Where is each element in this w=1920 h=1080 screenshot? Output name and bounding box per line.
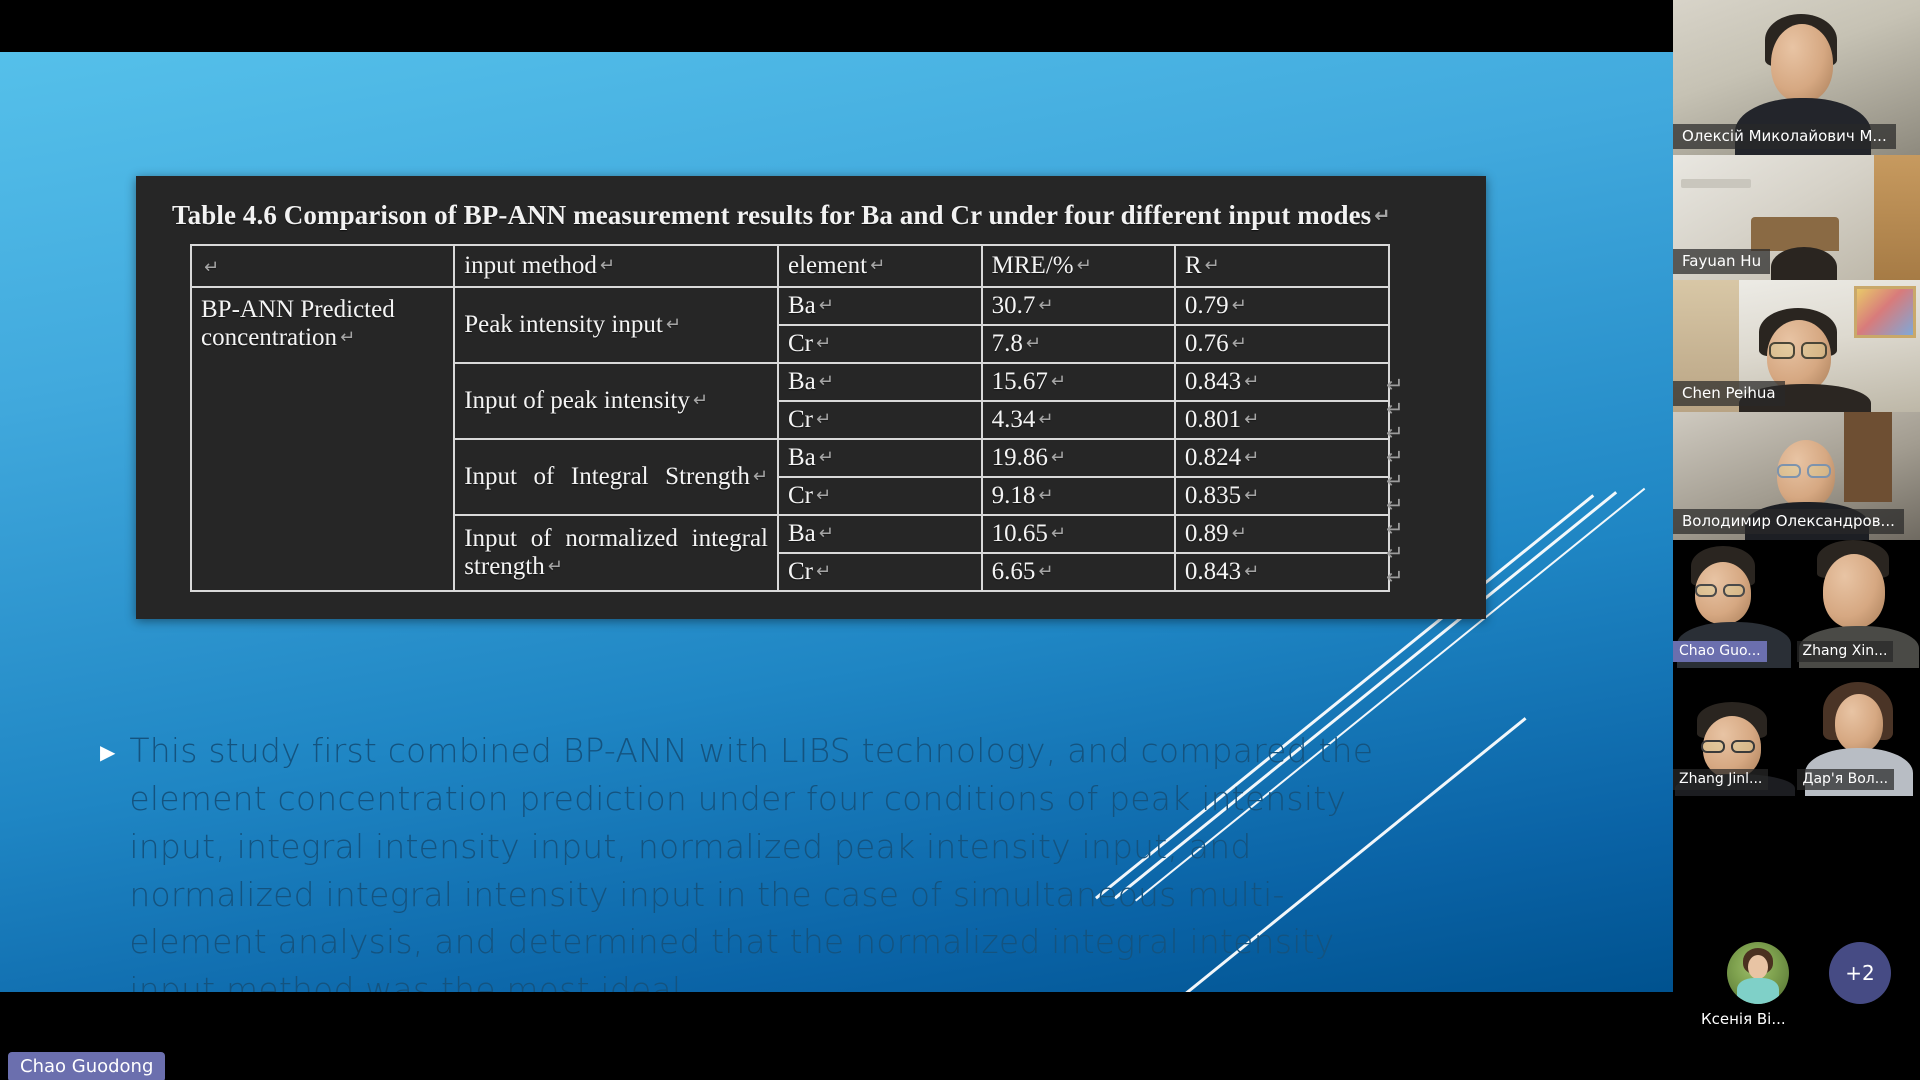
bullet-text: This study first combined BP-ANN with LI… xyxy=(129,727,1420,992)
pilcrow-icon: ↵ xyxy=(690,390,708,411)
face-shape xyxy=(1823,554,1885,628)
mre-text: 9.18 xyxy=(992,482,1036,509)
element-text: Ba xyxy=(788,368,816,395)
face-shape xyxy=(1771,24,1833,102)
header-cell-input-method: input method↵ xyxy=(454,245,778,287)
element-cell: Ba↵ xyxy=(778,515,982,553)
participant-tile[interactable]: Zhang Jinl... xyxy=(1673,668,1797,796)
glasses-icon xyxy=(1731,740,1755,753)
pilcrow-icon: ↵ xyxy=(663,314,681,335)
r-cell: 0.843↵ xyxy=(1175,363,1389,401)
table-header-row: ↵ input method↵ element↵ MRE/%↵ R↵ xyxy=(191,245,1389,287)
r-text: 0.89 xyxy=(1185,520,1229,547)
element-text: Cr xyxy=(788,558,813,585)
mre-text: 15.67 xyxy=(992,368,1048,395)
results-table: ↵ input method↵ element↵ MRE/%↵ R↵ BP-AN… xyxy=(190,244,1390,592)
pilcrow-icon: ↵ xyxy=(201,257,219,278)
pilcrow-icon: ↵ xyxy=(750,466,768,487)
method-text: Input of normalized integral strength xyxy=(464,525,768,580)
row-label-cell: BP-ANN Predicted concentration↵ xyxy=(191,287,454,591)
element-text: Cr xyxy=(788,330,813,357)
row-label-text: BP-ANN Predicted concentration xyxy=(201,296,395,351)
r-cell: 0.801↵ xyxy=(1175,401,1389,439)
mre-text: 10.65 xyxy=(992,520,1048,547)
pilcrow-icon: ↵ xyxy=(1386,421,1426,445)
participant-name: Zhang Jinl... xyxy=(1673,769,1768,790)
method-cell: Peak intensity input↵ xyxy=(454,287,778,363)
pilcrow-icon: ↵ xyxy=(816,371,834,392)
results-table-body: ↵ input method↵ element↵ MRE/%↵ R↵ BP-AN… xyxy=(191,245,1389,591)
pilcrow-icon: ↵ xyxy=(1023,333,1041,354)
participant-rail[interactable]: Олексій Миколайович М... Fayuan Hu Chen … xyxy=(1673,0,1920,1080)
r-cell: 0.76↵ xyxy=(1175,325,1389,363)
r-cell: 0.843↵ xyxy=(1175,553,1389,591)
element-cell: Cr↵ xyxy=(778,553,982,591)
method-text: Input of peak intensity xyxy=(464,387,690,414)
pilcrow-icon: ↵ xyxy=(1386,565,1426,589)
participant-name: Chen Peihua xyxy=(1673,381,1785,406)
participant-tile[interactable]: Chao Guo... xyxy=(1673,540,1797,668)
r-text: 0.76 xyxy=(1185,330,1229,357)
pilcrow-icon: ↵ xyxy=(1035,295,1053,316)
mre-text: 4.34 xyxy=(992,406,1036,433)
pilcrow-icon: ↵ xyxy=(813,409,831,430)
glasses-icon xyxy=(1701,740,1725,753)
mre-cell: 9.18↵ xyxy=(982,477,1175,515)
element-cell: Ba↵ xyxy=(778,363,982,401)
presenter-name-chip: Chao Guodong xyxy=(8,1052,165,1080)
header-text: R xyxy=(1185,252,1202,279)
glasses-icon xyxy=(1695,584,1717,597)
table-figure: Table 4.6 Comparison of BP-ANN measureme… xyxy=(136,176,1486,619)
method-text: Input of Integral Strength xyxy=(464,463,750,490)
glasses-icon xyxy=(1807,464,1831,478)
pilcrow-icon: ↵ xyxy=(1241,485,1259,506)
participant-tile-pair: Chao Guo... Zhang Xin... xyxy=(1673,540,1920,668)
paragraph-marks-column: ↵ ↵ ↵ ↵ ↵ ↵ ↵ ↵ ↵ xyxy=(1386,373,1426,589)
header-text: element xyxy=(788,252,867,279)
hair-shape xyxy=(1771,247,1837,280)
method-text: Peak intensity input xyxy=(464,311,663,338)
r-cell: 0.835↵ xyxy=(1175,477,1389,515)
avatar-name: Ксенія Ві... xyxy=(1701,1010,1786,1028)
participant-tile[interactable]: Chen Peihua xyxy=(1673,280,1920,412)
mre-text: 7.8 xyxy=(992,330,1023,357)
pilcrow-icon: ↵ xyxy=(813,561,831,582)
meeting-window: Table 4.6 Comparison of BP-ANN measureme… xyxy=(0,0,1920,1080)
element-text: Cr xyxy=(788,482,813,509)
glasses-icon xyxy=(1801,342,1827,359)
participant-tile[interactable]: Дар'я Вол... xyxy=(1797,668,1920,796)
pilcrow-icon: ↵ xyxy=(1241,447,1259,468)
pilcrow-icon: ↵ xyxy=(816,523,834,544)
mre-cell: 7.8↵ xyxy=(982,325,1175,363)
pilcrow-icon: ↵ xyxy=(1035,485,1053,506)
element-cell: Ba↵ xyxy=(778,287,982,325)
mre-text: 6.65 xyxy=(992,558,1036,585)
participant-name: Володимир Олександров... xyxy=(1673,509,1904,534)
pilcrow-icon: ↵ xyxy=(1386,445,1426,469)
element-text: Ba xyxy=(788,292,816,319)
pilcrow-icon: ↵ xyxy=(1371,204,1390,227)
method-cell: Input of Integral Strength↵ xyxy=(454,439,778,515)
pilcrow-icon: ↵ xyxy=(1035,561,1053,582)
pilcrow-icon: ↵ xyxy=(1048,447,1066,468)
participant-name: Олексій Миколайович М... xyxy=(1673,124,1896,149)
header-cell-mre: MRE/%↵ xyxy=(982,245,1175,287)
header-cell-element: element↵ xyxy=(778,245,982,287)
mre-cell: 4.34↵ xyxy=(982,401,1175,439)
torso-shape xyxy=(1737,978,1779,1004)
face-shape xyxy=(1835,694,1883,752)
door-shape xyxy=(1844,412,1892,502)
overflow-participants-badge[interactable]: +2 xyxy=(1829,942,1891,1004)
pilcrow-icon: ↵ xyxy=(1074,255,1092,276)
pilcrow-icon: ↵ xyxy=(1048,371,1066,392)
pilcrow-icon: ↵ xyxy=(813,333,831,354)
pilcrow-icon: ↵ xyxy=(1229,333,1247,354)
r-text: 0.835 xyxy=(1185,482,1241,509)
participant-tile[interactable]: Олексій Миколайович М... xyxy=(1673,0,1920,155)
pilcrow-icon: ↵ xyxy=(1386,373,1426,397)
pilcrow-icon: ↵ xyxy=(813,485,831,506)
r-text: 0.801 xyxy=(1185,406,1241,433)
face-shape xyxy=(1748,955,1768,979)
shared-screen-stage[interactable]: Table 4.6 Comparison of BP-ANN measureme… xyxy=(0,0,1673,1080)
poster-shape xyxy=(1854,286,1916,338)
mre-cell: 30.7↵ xyxy=(982,287,1175,325)
table-caption-text: Table 4.6 Comparison of BP-ANN measureme… xyxy=(172,200,1371,230)
pilcrow-icon: ↵ xyxy=(1229,523,1247,544)
mre-text: 30.7 xyxy=(992,292,1036,319)
pilcrow-icon: ↵ xyxy=(1241,561,1259,582)
participant-tile[interactable]: Zhang Xin... xyxy=(1797,540,1920,668)
pilcrow-icon: ↵ xyxy=(867,255,885,276)
pilcrow-icon: ↵ xyxy=(337,327,355,348)
participant-tile-pair: Zhang Jinl... Дар'я Вол... xyxy=(1673,668,1920,796)
participant-name: Chao Guo... xyxy=(1673,641,1767,662)
pilcrow-icon: ↵ xyxy=(816,295,834,316)
header-cell-r: R↵ xyxy=(1175,245,1389,287)
mre-cell: 6.65↵ xyxy=(982,553,1175,591)
header-text: MRE/% xyxy=(992,252,1074,279)
participant-tile[interactable]: Fayuan Hu xyxy=(1673,155,1920,280)
header-text: input method xyxy=(464,252,597,279)
participant-name: Zhang Xin... xyxy=(1797,641,1894,662)
avatar[interactable] xyxy=(1727,942,1789,1004)
r-text: 0.843 xyxy=(1185,368,1241,395)
r-text: 0.824 xyxy=(1185,444,1241,471)
curtain-shape xyxy=(1874,155,1920,280)
pilcrow-icon: ↵ xyxy=(1035,409,1053,430)
glasses-icon xyxy=(1723,584,1745,597)
shelf-shape xyxy=(1681,179,1751,188)
r-cell: 0.824↵ xyxy=(1175,439,1389,477)
pilcrow-icon: ↵ xyxy=(816,447,834,468)
r-text: 0.79 xyxy=(1185,292,1229,319)
glasses-icon xyxy=(1777,464,1801,478)
element-text: Cr xyxy=(788,406,813,433)
method-cell: Input of normalized integral strength↵ xyxy=(454,515,778,591)
method-cell: Input of peak intensity↵ xyxy=(454,363,778,439)
bed-headboard-shape xyxy=(1751,217,1839,251)
pilcrow-icon: ↵ xyxy=(1386,517,1426,541)
element-text: Ba xyxy=(788,520,816,547)
bullet-arrow-icon: ▶ xyxy=(100,743,115,992)
r-cell: 0.79↵ xyxy=(1175,287,1389,325)
pilcrow-icon: ↵ xyxy=(1241,371,1259,392)
bullet-paragraph: ▶ This study first combined BP-ANN with … xyxy=(100,727,1420,992)
element-cell: Cr↵ xyxy=(778,477,982,515)
audio-only-participants: Ксенія Ві... +2 xyxy=(1673,932,1920,1050)
pilcrow-icon: ↵ xyxy=(1048,523,1066,544)
mre-cell: 10.65↵ xyxy=(982,515,1175,553)
pilcrow-icon: ↵ xyxy=(1386,493,1426,517)
participant-name: Дар'я Вол... xyxy=(1797,769,1895,790)
pilcrow-icon: ↵ xyxy=(1229,295,1247,316)
pilcrow-icon: ↵ xyxy=(597,255,615,276)
mre-cell: 19.86↵ xyxy=(982,439,1175,477)
table-caption: Table 4.6 Comparison of BP-ANN measureme… xyxy=(166,198,1456,234)
element-text: Ba xyxy=(788,444,816,471)
pilcrow-icon: ↵ xyxy=(1202,255,1220,276)
header-cell-blank: ↵ xyxy=(191,245,454,287)
r-text: 0.843 xyxy=(1185,558,1241,585)
presentation-slide: Table 4.6 Comparison of BP-ANN measureme… xyxy=(0,52,1673,992)
pilcrow-icon: ↵ xyxy=(1386,469,1426,493)
table-row: BP-ANN Predicted concentration↵ Peak int… xyxy=(191,287,1389,325)
r-cell: 0.89↵ xyxy=(1175,515,1389,553)
glasses-icon xyxy=(1769,342,1795,359)
element-cell: Cr↵ xyxy=(778,401,982,439)
participant-tile[interactable]: Володимир Олександров... xyxy=(1673,412,1920,540)
pilcrow-icon: ↵ xyxy=(545,556,563,577)
mre-text: 19.86 xyxy=(992,444,1048,471)
participant-name: Fayuan Hu xyxy=(1673,249,1770,274)
element-cell: Cr↵ xyxy=(778,325,982,363)
pilcrow-icon: ↵ xyxy=(1241,409,1259,430)
pilcrow-icon: ↵ xyxy=(1386,397,1426,421)
pilcrow-icon: ↵ xyxy=(1386,541,1426,565)
mre-cell: 15.67↵ xyxy=(982,363,1175,401)
element-cell: Ba↵ xyxy=(778,439,982,477)
